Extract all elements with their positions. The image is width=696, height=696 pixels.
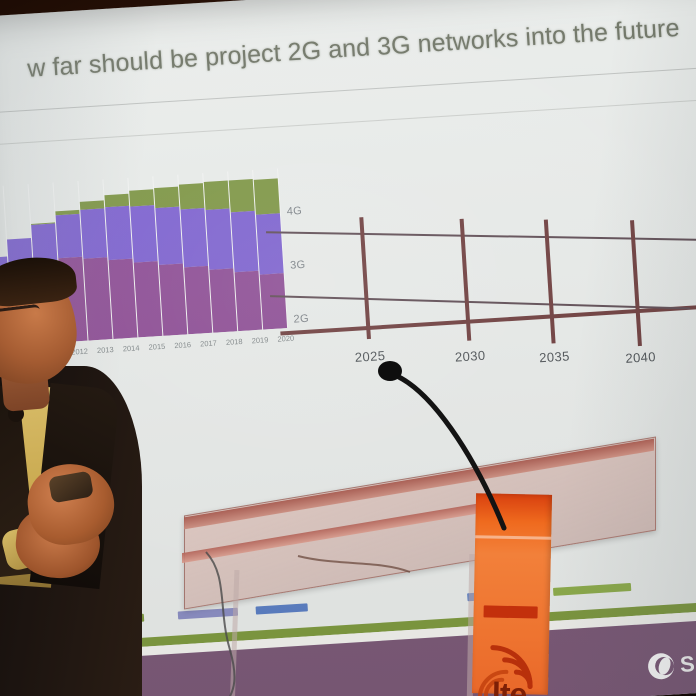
timeline-label-2030: 2030 [455, 348, 486, 365]
chart-bar-segment [204, 181, 230, 211]
chart-bar-segment [154, 186, 179, 208]
timeline-label-2035: 2035 [539, 348, 570, 365]
chart-bar-segment [231, 211, 259, 272]
chart-x-tick: 2019 [247, 335, 274, 355]
chart-bar-segment [180, 208, 208, 267]
presentation-photo: w far should be project 2G and 3G networ… [0, 0, 696, 696]
podium-banner: lte [472, 493, 552, 695]
projection-timeline: 2025 2030 2035 2040 [270, 136, 696, 398]
chart-bar-segment [206, 209, 234, 270]
chart-bar-segment [159, 263, 187, 336]
timeline-axis [280, 299, 696, 336]
podium: lte [178, 466, 696, 696]
chart-x-tick: 2016 [170, 340, 197, 360]
chart-bar-segment [234, 270, 262, 331]
chart-bar-segment [155, 207, 183, 265]
timeline-label-2025: 2025 [354, 348, 385, 365]
chart-bar-segment [179, 184, 204, 210]
speaker [0, 196, 152, 696]
chart-x-tick: 2018 [221, 337, 248, 357]
timeline-label-2040: 2040 [625, 349, 656, 366]
chart-x-tick: 2017 [195, 338, 222, 358]
chart-bar-segment [209, 268, 237, 333]
chart-bar-segment [229, 179, 255, 213]
banner-accent-bar [484, 605, 538, 618]
chart-bar-segment [184, 266, 212, 335]
trend-line-2g [270, 295, 690, 309]
slide-title: w far should be project 2G and 3G networ… [27, 11, 696, 84]
banner-brand-text: lte [492, 676, 527, 696]
timeline-tick-2025 [359, 217, 371, 339]
title-divider-secondary [0, 95, 696, 146]
